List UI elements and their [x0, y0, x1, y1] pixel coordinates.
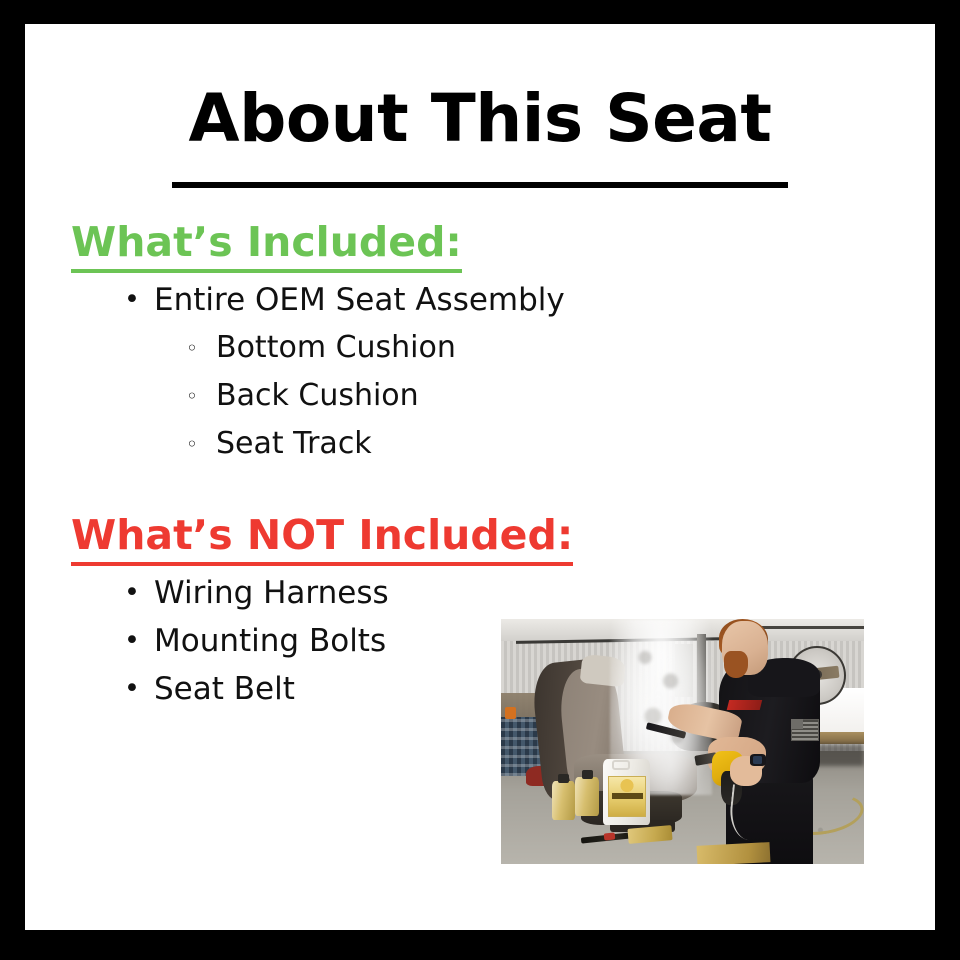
- cleaning-bottle: [552, 781, 576, 820]
- wood-plank: [697, 843, 771, 864]
- bullet-filled-icon: •: [124, 276, 154, 324]
- list-item: ◦Bottom Cushion: [71, 324, 565, 372]
- gallon-jug-label-text: [612, 793, 643, 799]
- section-heading-included-label: What’s Included:: [71, 218, 462, 266]
- bullet-hollow-icon: ◦: [186, 420, 216, 468]
- section-heading-not-included-underline: [71, 562, 573, 566]
- cleaning-bottle-cap: [582, 770, 593, 779]
- photo-scene: [501, 619, 864, 864]
- page-title-text: About This Seat: [189, 80, 772, 157]
- cleaning-bottle-cap: [558, 774, 569, 783]
- section-heading-included: What’s Included:: [71, 218, 462, 266]
- list-item-label: Bottom Cushion: [216, 330, 456, 365]
- orange-shop-item: [505, 707, 516, 719]
- detail-brush-grip: [604, 832, 616, 840]
- title-underline: [172, 182, 788, 188]
- photo-seat-cleaning: [501, 619, 864, 864]
- list-item-label: Seat Track: [216, 426, 372, 461]
- list-item-label: Mounting Bolts: [154, 623, 386, 659]
- bullet-hollow-icon: ◦: [186, 372, 216, 420]
- shirt-logo: [727, 700, 762, 710]
- list-item-label: Entire OEM Seat Assembly: [154, 282, 565, 318]
- list-included: •Entire OEM Seat Assembly ◦Bottom Cushio…: [71, 276, 565, 468]
- section-heading-not-included-label: What’s NOT Included:: [71, 511, 573, 559]
- bullet-filled-icon: •: [124, 665, 154, 713]
- list-item-label: Seat Belt: [154, 671, 295, 707]
- list-not-included: •Wiring Harness •Mounting Bolts •Seat Be…: [71, 569, 389, 713]
- list-item-label: Wiring Harness: [154, 575, 389, 611]
- flag-canton: [791, 719, 803, 729]
- list-item: •Wiring Harness: [71, 569, 389, 617]
- bullet-hollow-icon: ◦: [186, 324, 216, 372]
- section-heading-included-underline: [71, 269, 462, 273]
- slide-canvas: About This Seat What’s Included: •Entire…: [25, 24, 935, 930]
- cleaning-bottle: [575, 777, 599, 816]
- technician-beard: [724, 651, 748, 678]
- page-title: About This Seat: [25, 80, 935, 158]
- bullet-filled-icon: •: [124, 617, 154, 665]
- list-item: ◦Seat Track: [71, 420, 565, 468]
- list-item: ◦Back Cushion: [71, 372, 565, 420]
- slide-frame: About This Seat What’s Included: •Entire…: [0, 0, 960, 960]
- list-item: •Mounting Bolts: [71, 617, 389, 665]
- list-item: •Seat Belt: [71, 665, 389, 713]
- bullet-filled-icon: •: [124, 569, 154, 617]
- wristwatch-face: [753, 756, 762, 763]
- section-heading-not-included: What’s NOT Included:: [71, 511, 573, 559]
- gallon-jug-handle: [612, 760, 630, 770]
- list-item-label: Back Cushion: [216, 378, 419, 413]
- list-item: •Entire OEM Seat Assembly: [71, 276, 565, 324]
